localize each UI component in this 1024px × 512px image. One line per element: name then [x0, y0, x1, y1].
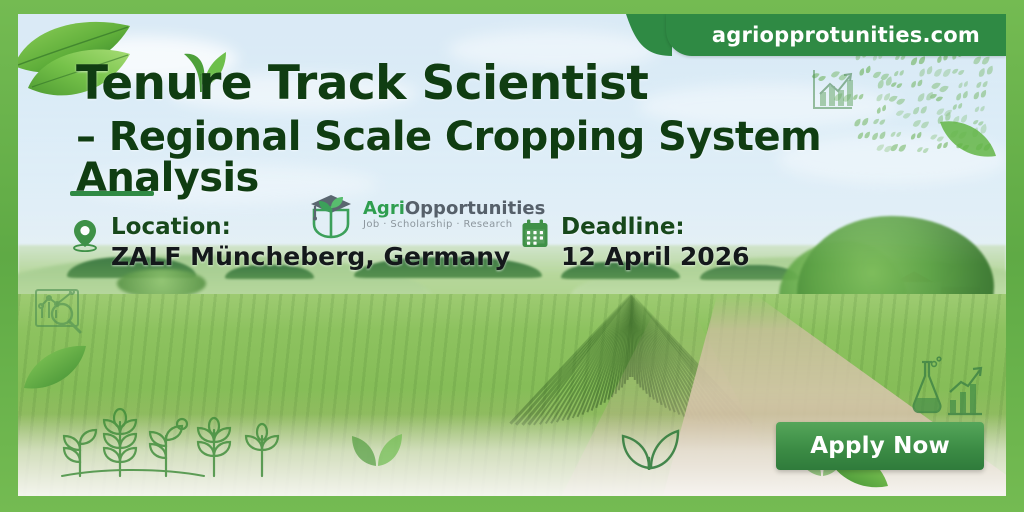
page-title: Tenure Track Scientist – Regional Scale …	[76, 60, 1006, 200]
brand-logo[interactable]: AgriOpportunities Job · Scholarship · Re…	[306, 190, 545, 240]
apply-now-button[interactable]: Apply Now	[776, 422, 984, 470]
logo-name: AgriOpportunities	[363, 200, 545, 219]
logo-name-prefix: Agri	[363, 198, 405, 219]
title-line-2: – Regional Scale Cropping System Analysi…	[76, 117, 1006, 200]
website-url: agriopprotunities.com	[712, 23, 980, 47]
title-divider	[70, 191, 154, 196]
location-value: ZALF Müncheberg, Germany	[111, 242, 510, 272]
map-pin-icon	[70, 218, 100, 252]
banner-content: Tenure Track Scientist – Regional Scale …	[18, 14, 1006, 496]
website-url-tab[interactable]: agriopprotunities.com	[666, 14, 1006, 56]
logo-tagline: Job · Scholarship · Research	[363, 220, 545, 231]
banner-inner-panel: Tenure Track Scientist – Regional Scale …	[18, 14, 1006, 496]
deadline-block: Deadline: 12 April 2026	[520, 214, 750, 272]
deadline-label: Deadline:	[561, 214, 750, 241]
logo-text: AgriOpportunities Job · Scholarship · Re…	[363, 200, 545, 230]
job-announcement-banner: Tenure Track Scientist – Regional Scale …	[0, 0, 1024, 512]
graduation-cap-sprout-icon	[306, 190, 356, 240]
logo-name-suffix: Opportunities	[405, 198, 545, 219]
title-line-1: Tenure Track Scientist	[76, 60, 1006, 109]
deadline-value: 12 April 2026	[561, 242, 750, 272]
